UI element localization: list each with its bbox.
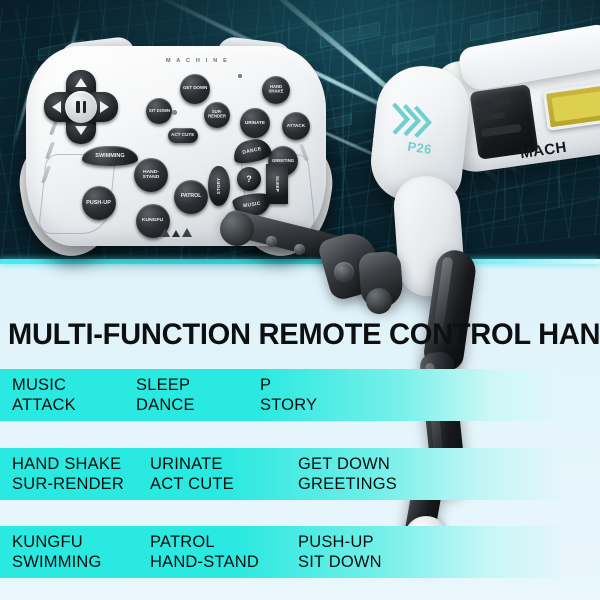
function-row: SWIMMING HAND-STAND SIT DOWN [12, 552, 560, 572]
function-row: KUNGFU PATROL PUSH-UP [12, 532, 560, 552]
button-hand-stand[interactable]: HAND-STAND [134, 158, 168, 192]
function-label: HAND-STAND [150, 553, 298, 572]
center-function-button[interactable]: ? [237, 167, 261, 191]
button-push-up[interactable]: PUSH-UP [82, 186, 116, 220]
function-row: HAND SHAKE URINATE GET DOWN [12, 454, 560, 474]
function-block-2: HAND SHAKE URINATE GET DOWN SUR-RENDER A… [0, 448, 560, 500]
function-label: P [260, 376, 410, 395]
function-row: SUR-RENDER ACT CUTE GREETINGS [12, 474, 560, 494]
indicator-led [238, 74, 242, 78]
status-led [172, 110, 177, 115]
action-diamond[interactable]: DANCE MUSIC STORY SLEEP ? [212, 142, 286, 216]
home-indicator-icon [160, 228, 192, 237]
function-label: URINATE [150, 455, 298, 474]
function-label: GET DOWN [298, 455, 448, 474]
function-label: GREETINGS [298, 475, 448, 494]
function-label: HAND SHAKE [12, 455, 150, 474]
function-label: SIT DOWN [298, 553, 448, 572]
remote-control-handle: M A C H I N E · FCW PWR [26, 46, 326, 246]
robot-bolt [266, 236, 277, 247]
function-label: ACT CUTE [150, 475, 298, 494]
pause-button[interactable] [65, 91, 97, 123]
function-label: SLEEP [136, 376, 260, 395]
function-label: SUR-RENDER [12, 475, 150, 494]
page-title: MULTI-FUNCTION REMOTE CONTROL HANDLE [8, 318, 600, 352]
robot-pivot [334, 262, 354, 282]
function-row: ATTACK DANCE STORY [12, 395, 560, 415]
button-sit-down[interactable]: SIT DOWN [146, 98, 172, 124]
pause-icon [76, 101, 86, 113]
function-label: PUSH-UP [298, 533, 448, 552]
button-hand-shake[interactable]: HAND SHAKE [262, 76, 290, 104]
button-sleep[interactable]: SLEEP [266, 164, 288, 204]
robot-dog: MACH P26 [352, 0, 600, 600]
function-label: KUNGFU [12, 533, 150, 552]
button-urinate[interactable]: URINATE [240, 108, 270, 138]
brand-label: M A C H I N E [166, 58, 229, 64]
button-act-cute[interactable]: ACT CUTE [168, 128, 198, 143]
button-sur-render[interactable]: SUR-RENDER [204, 102, 230, 128]
button-patrol[interactable]: PATROL [174, 180, 208, 214]
button-swimming[interactable]: SWIMMING [82, 146, 138, 166]
micro-hole: · [122, 96, 124, 101]
robot-logo: P26 [385, 101, 438, 157]
function-block-3: KUNGFU PATROL PUSH-UP SWIMMING HAND-STAN… [0, 526, 560, 578]
robot-joint-cap [366, 288, 392, 314]
robot-logo-text: P26 [407, 139, 433, 157]
product-banner: M A C H I N E · FCW PWR [0, 0, 600, 600]
function-label: MUSIC [12, 376, 136, 395]
function-row: MUSIC SLEEP P [12, 375, 560, 395]
robot-arm-knob [220, 212, 254, 246]
function-label: SWIMMING [12, 553, 150, 572]
robot-bolt [294, 244, 305, 255]
function-label: DANCE [136, 396, 260, 415]
button-story[interactable]: STORY [208, 166, 230, 206]
function-label: STORY [260, 396, 410, 415]
function-label: ATTACK [12, 396, 136, 415]
button-get-down[interactable]: GET DOWN [180, 74, 210, 104]
function-label: PATROL [150, 533, 298, 552]
button-attack[interactable]: ATTACK [282, 112, 310, 140]
function-block-1: MUSIC SLEEP P ATTACK DANCE STORY [0, 369, 560, 421]
dpad[interactable] [44, 70, 118, 144]
